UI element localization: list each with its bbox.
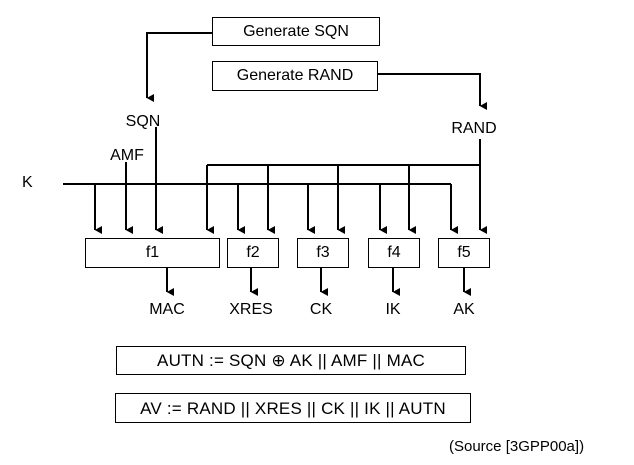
input-label-sqn: SQN — [126, 114, 161, 130]
generate-sqn-box: Generate SQN — [212, 17, 380, 46]
function-label-f5: f5 — [457, 245, 470, 261]
function-label-f4: f4 — [387, 245, 400, 261]
wire-generate-sqn — [147, 33, 212, 98]
function-label-f1: f1 — [146, 245, 159, 261]
input-label-k: K — [22, 175, 33, 191]
formula-label-av: AV := RAND || XRES || CK || IK || AUTN — [140, 400, 446, 417]
wire-generate-rand — [378, 74, 480, 106]
function-label-f3: f3 — [316, 245, 329, 261]
output-label-xres: XRES — [229, 302, 273, 318]
formula-box-autn: AUTN := SQN ⊕ AK || AMF || MAC — [116, 346, 466, 375]
authentication-vector-diagram: Generate SQN Generate RAND K SQN AMF RAN… — [0, 0, 634, 465]
output-label-ak: AK — [453, 302, 474, 318]
input-label-amf: AMF — [110, 148, 144, 164]
output-label-mac: MAC — [149, 302, 185, 318]
formula-box-av: AV := RAND || XRES || CK || IK || AUTN — [115, 393, 471, 423]
function-box-f2: f2 — [227, 238, 279, 268]
function-box-f5: f5 — [438, 238, 490, 268]
function-box-f4: f4 — [368, 238, 420, 268]
formula-label-autn: AUTN := SQN ⊕ AK || AMF || MAC — [157, 352, 425, 369]
output-label-ik: IK — [385, 302, 400, 318]
input-label-rand: RAND — [451, 121, 496, 137]
generate-sqn-label: Generate SQN — [243, 24, 349, 40]
generate-rand-label: Generate RAND — [237, 68, 354, 84]
output-label-ck: CK — [310, 302, 332, 318]
function-box-f1: f1 — [85, 238, 220, 268]
function-box-f3: f3 — [297, 238, 349, 268]
function-label-f2: f2 — [246, 245, 259, 261]
source-note: (Source [3GPP00a]) — [449, 438, 584, 455]
generate-rand-box: Generate RAND — [212, 61, 378, 91]
